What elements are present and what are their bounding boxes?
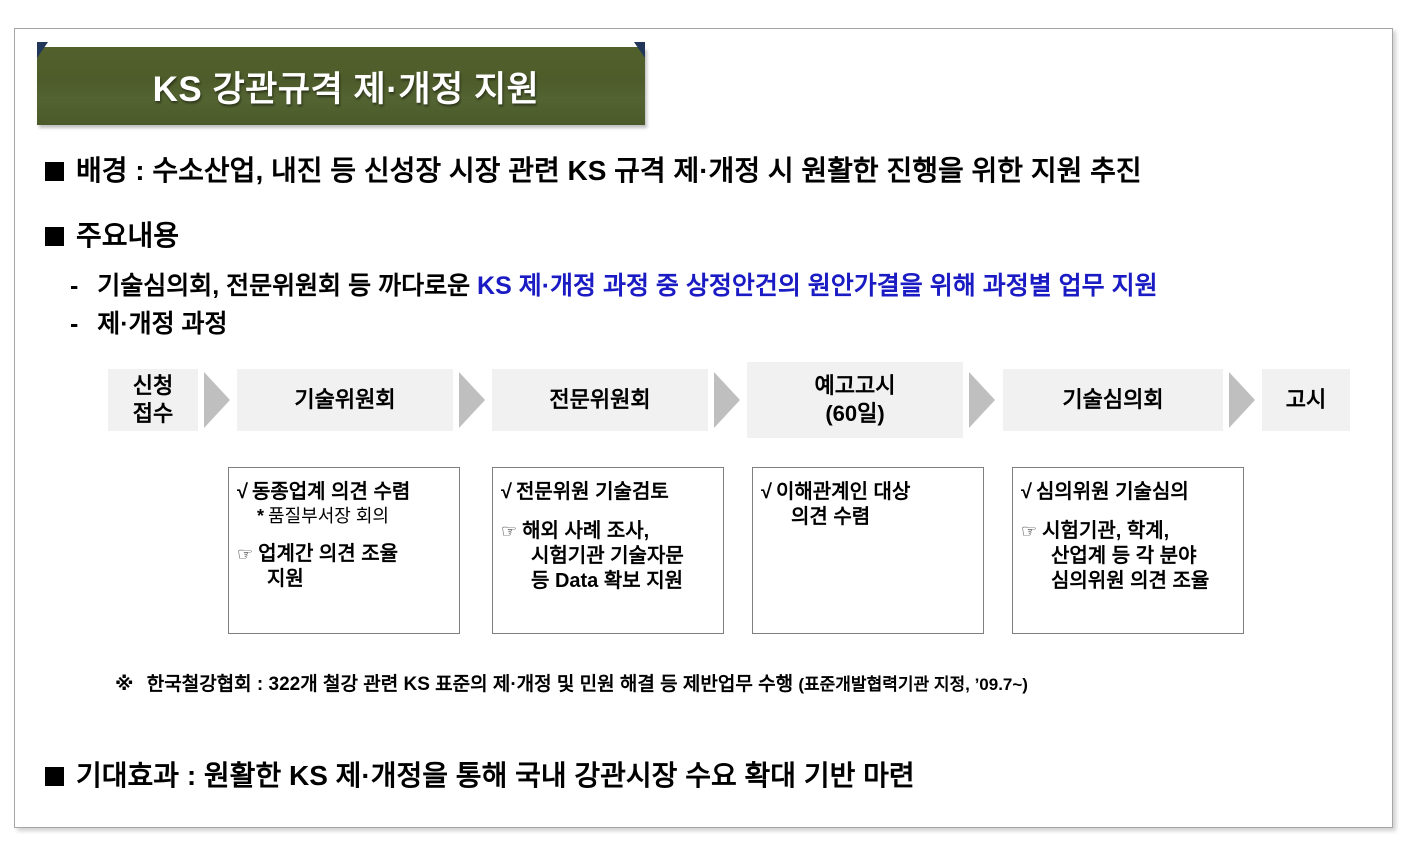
detail-spacer bbox=[237, 528, 453, 542]
check-mark-icon: √ bbox=[1021, 481, 1032, 503]
detail-row: √동종업계 의견 수렴 bbox=[237, 480, 453, 505]
bullet-expected-effect: 기대효과 : 원활한 KS 제·개정을 통해 국내 강관시장 수요 확대 기반 … bbox=[45, 754, 915, 794]
bullet-background: 배경 : 수소산업, 내진 등 신성장 시장 관련 KS 규격 제·개정 시 원… bbox=[45, 149, 1142, 189]
detail-row-text: 산업계 등 각 분야 bbox=[1051, 545, 1196, 567]
flow-step-technical-committee[interactable]: 기술위원회 bbox=[237, 369, 453, 431]
square-bullet-icon bbox=[45, 767, 64, 786]
flow-step-technical-committee-label: 기술위원회 bbox=[294, 386, 395, 414]
flow-step-notification[interactable]: 고시 bbox=[1262, 369, 1350, 431]
flow-step-notification-label: 고시 bbox=[1286, 386, 1326, 414]
square-bullet-icon bbox=[45, 227, 64, 246]
dash-marker: - bbox=[70, 310, 78, 338]
slide-title-banner: KS 강관규격 제·개정 지원 bbox=[37, 47, 645, 125]
check-mark-icon: √ bbox=[761, 481, 772, 503]
flow-arrow-3-icon bbox=[714, 372, 740, 428]
sub-bullet-process-list: - 제·개정 과정 bbox=[70, 304, 228, 340]
flow-arrow-5-icon bbox=[1229, 372, 1255, 428]
flow-arrow-1-icon bbox=[204, 372, 230, 428]
slide-canvas: KS 강관규격 제·개정 지원 배경 : 수소산업, 내진 등 신성장 시장 관… bbox=[14, 28, 1393, 828]
detail-row: 등 Data 확보 지원 bbox=[501, 569, 717, 594]
flow-step-expert-committee-label: 전문위원회 bbox=[549, 386, 650, 414]
footnote-main-text: 한국철강협회 : 322개 철강 관련 KS 표준의 제·개정 및 민원 해결 … bbox=[147, 674, 799, 695]
flow-step-public-notice-label: 예고고시 (60일) bbox=[815, 372, 896, 428]
detail-row-text: 등 Data 확보 지원 bbox=[531, 570, 683, 592]
detail-row: √심의위원 기술심의 bbox=[1021, 480, 1237, 505]
detail-row-text: 시험기관 기술자문 bbox=[531, 545, 684, 567]
detail-row: 시험기관 기술자문 bbox=[501, 544, 717, 569]
detail-row: √전문위원 기술검토 bbox=[501, 480, 717, 505]
footnote-paren-text: (표준개발협력기관 지정, ’09.7~) bbox=[798, 675, 1028, 694]
detail-row: 지원 bbox=[237, 567, 453, 592]
square-bullet-icon bbox=[45, 162, 64, 181]
detail-row-text: 지원 bbox=[267, 568, 304, 590]
pointing-hand-icon: ☞ bbox=[237, 544, 253, 564]
flow-step-application[interactable]: 신청 접수 bbox=[108, 369, 198, 431]
detail-row: 심의위원 의견 조율 bbox=[1021, 569, 1237, 594]
detail-row-text: 이해관계인 대상 bbox=[776, 481, 910, 503]
sub-bullet-process-list-text: 제·개정 과정 bbox=[97, 310, 227, 338]
detail-row: ☞업계간 의견 조율 bbox=[237, 542, 453, 567]
detail-row: ☞해외 사례 조사, bbox=[501, 519, 717, 544]
detail-spacer bbox=[501, 505, 717, 519]
sub-bullet-highlight-text: KS 제·개정 과정 중 상정안건의 원안가결을 위해 과정별 업무 지원 bbox=[477, 272, 1158, 300]
detail-row-text: 의견 수렴 bbox=[791, 506, 870, 528]
detail-box-public-notice: √이해관계인 대상 의견 수렴 bbox=[752, 467, 984, 634]
flow-step-application-label: 신청 접수 bbox=[133, 372, 173, 428]
dash-marker: - bbox=[70, 272, 78, 300]
bullet-main-content: 주요내용 bbox=[45, 214, 179, 254]
reference-mark-icon: ※ bbox=[115, 674, 133, 695]
pointing-hand-icon: ☞ bbox=[1021, 521, 1037, 541]
flow-step-expert-committee[interactable]: 전문위원회 bbox=[492, 369, 708, 431]
bullet-main-content-text: 주요내용 bbox=[76, 214, 179, 254]
detail-box-technical-committee: √동종업계 의견 수렴 *품질부서장 회의 ☞업계간 의견 조율 지원 bbox=[228, 467, 460, 634]
check-mark-icon: √ bbox=[501, 481, 512, 503]
flow-step-public-notice[interactable]: 예고고시 (60일) bbox=[747, 362, 963, 438]
detail-row-text: 동종업계 의견 수렴 bbox=[252, 481, 410, 503]
detail-row: 산업계 등 각 분야 bbox=[1021, 544, 1237, 569]
pointing-hand-icon: ☞ bbox=[501, 521, 517, 541]
flow-arrow-4-icon bbox=[969, 372, 995, 428]
flow-arrow-2-icon bbox=[459, 372, 485, 428]
check-mark-icon: √ bbox=[237, 481, 248, 503]
sub-bullet-plain-text: 기술심의회, 전문위원회 등 까다로운 bbox=[97, 272, 477, 300]
flow-step-deliberation-committee[interactable]: 기술심의회 bbox=[1003, 369, 1223, 431]
detail-row-text: 해외 사례 조사, bbox=[522, 520, 649, 542]
detail-row-text: 시험기관, 학계, bbox=[1042, 520, 1169, 542]
detail-row-text: 전문위원 기술검토 bbox=[516, 481, 669, 503]
detail-row: √이해관계인 대상 bbox=[761, 480, 977, 505]
detail-box-expert-committee: √전문위원 기술검토 ☞해외 사례 조사, 시험기관 기술자문 등 Data 확… bbox=[492, 467, 724, 634]
detail-row-text: 품질부서장 회의 bbox=[268, 506, 389, 526]
bullet-expected-effect-text: 기대효과 : 원활한 KS 제·개정을 통해 국내 강관시장 수요 확대 기반 … bbox=[76, 754, 915, 794]
bullet-background-text: 배경 : 수소산업, 내진 등 신성장 시장 관련 KS 규격 제·개정 시 원… bbox=[76, 149, 1142, 189]
detail-row-text: 심의위원 기술심의 bbox=[1036, 481, 1189, 503]
footnote-line: ※ 한국철강협회 : 322개 철강 관련 KS 표준의 제·개정 및 민원 해… bbox=[115, 669, 1028, 696]
detail-box-deliberation-committee: √심의위원 기술심의 ☞시험기관, 학계, 산업계 등 각 분야 심의위원 의견… bbox=[1012, 467, 1244, 634]
detail-spacer bbox=[1021, 505, 1237, 519]
detail-row: ☞시험기관, 학계, bbox=[1021, 519, 1237, 544]
page-title: KS 강관규격 제·개정 지원 bbox=[37, 47, 645, 125]
flow-step-deliberation-committee-label: 기술심의회 bbox=[1062, 386, 1163, 414]
detail-row: 의견 수렴 bbox=[761, 505, 977, 530]
detail-row-text: 심의위원 의견 조율 bbox=[1051, 570, 1209, 592]
detail-row: *품질부서장 회의 bbox=[237, 505, 453, 528]
asterisk-icon: * bbox=[257, 506, 264, 526]
sub-bullet-process-support: - 기술심의회, 전문위원회 등 까다로운 KS 제·개정 과정 중 상정안건의… bbox=[70, 266, 1158, 302]
detail-row-text: 업계간 의견 조율 bbox=[258, 543, 398, 565]
